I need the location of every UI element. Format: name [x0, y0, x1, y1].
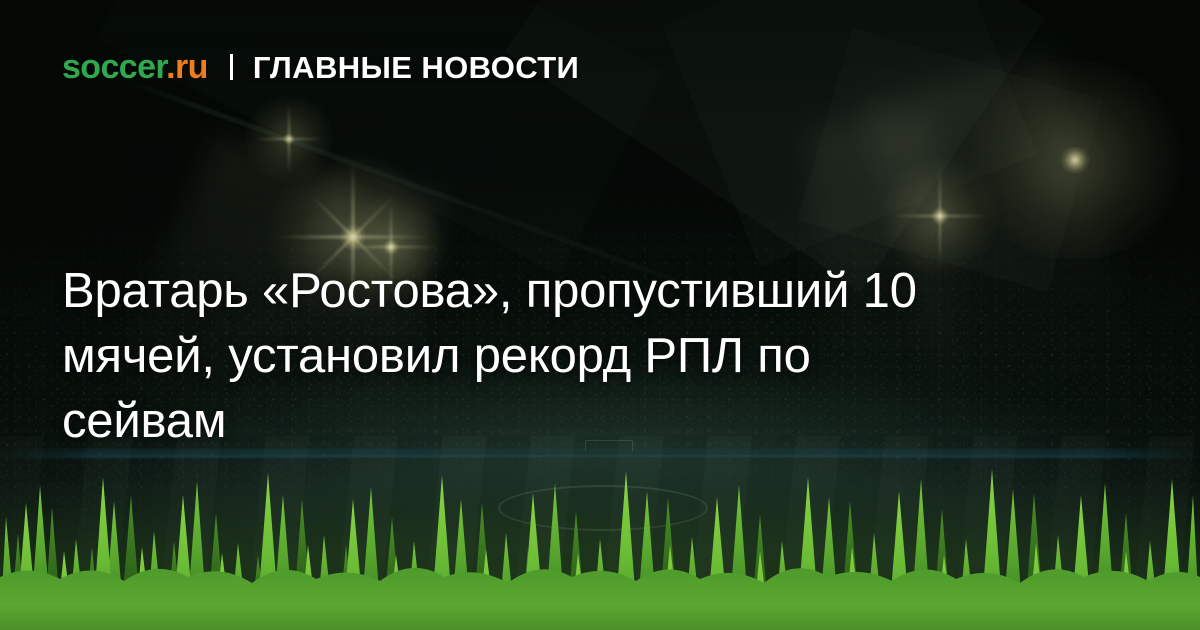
pitch-touchline-marking: [69, 456, 1131, 457]
floodlight-flare-icon: [244, 94, 334, 184]
headline: Вратарь «Ростова», пропустивший 10 мячей…: [62, 259, 1152, 454]
headline-line-2: мячей, установил рекорд РПЛ по: [62, 324, 1152, 389]
card-header: soccer.ru ГЛАВНЫЕ НОВОСТИ: [62, 50, 579, 84]
grass-base-mat: [0, 568, 1200, 630]
floodlight-glow-icon: [960, 60, 1190, 260]
grass-back-row: [10, 493, 1181, 630]
section-label: ГЛАВНЫЕ НОВОСТИ: [253, 52, 579, 83]
grass-mid-row: [0, 479, 1200, 630]
header-divider: [230, 54, 233, 80]
roof-facet: [504, 0, 1045, 292]
pitch-surface: [0, 430, 1200, 630]
pitch-centre-circle-marking: [498, 485, 708, 531]
roof-facet: [96, 0, 664, 276]
headline-line-3: сейвам: [62, 389, 1152, 454]
soccer-ru-logo[interactable]: soccer.ru: [62, 50, 208, 84]
headline-line-1: Вратарь «Ростова», пропустивший 10: [62, 259, 1152, 324]
logo-word-ru: .ru: [166, 48, 208, 86]
logo-word-soccer: soccer: [62, 48, 166, 86]
roof-facet: [662, 0, 1038, 267]
grass-front-row: [16, 469, 1184, 630]
pitch-mown-stripes: [0, 436, 1200, 630]
grass-foreground: [0, 455, 1200, 630]
roof-facet: [797, 28, 1102, 292]
share-card: soccer.ru ГЛАВНЫЕ НОВОСТИ Вратарь «Росто…: [0, 0, 1200, 630]
